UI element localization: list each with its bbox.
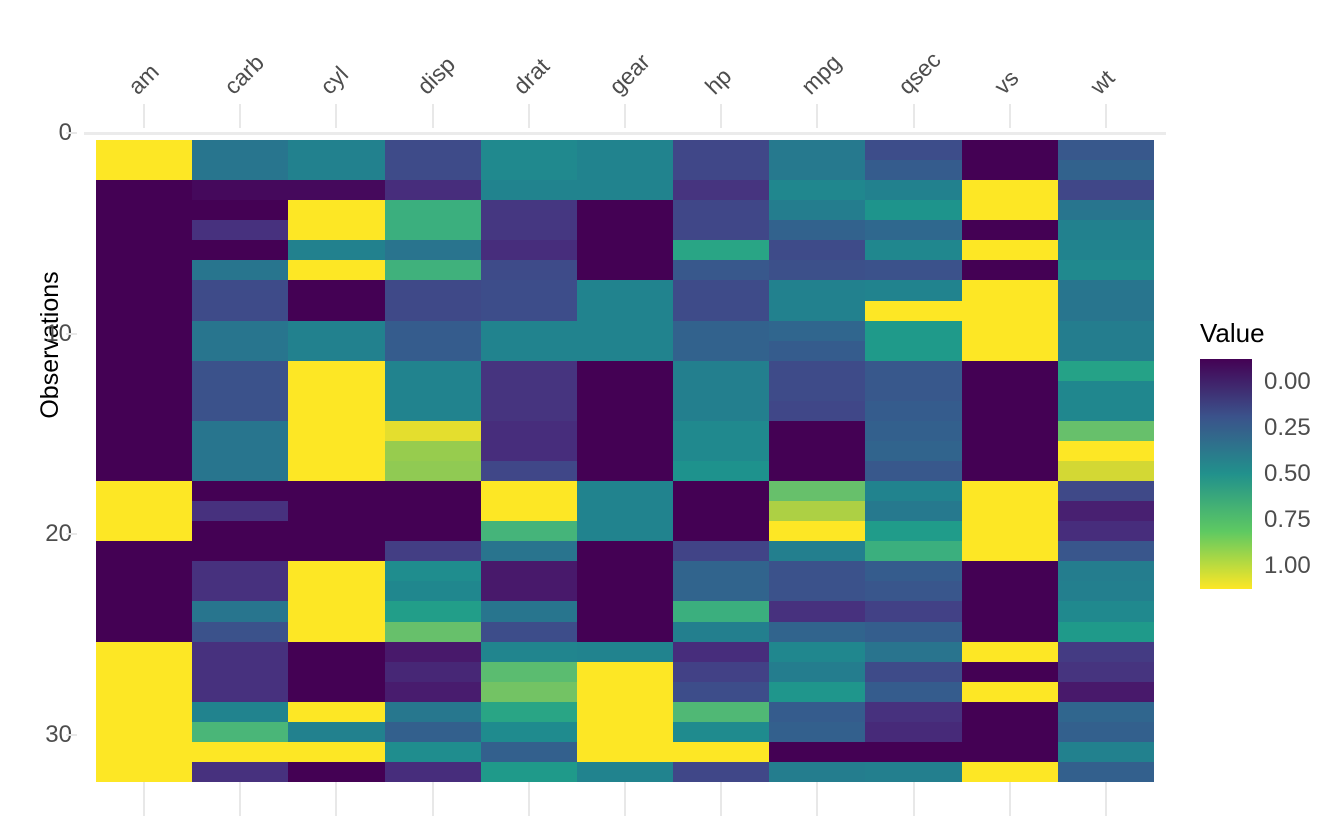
heatmap-cell (577, 180, 674, 201)
heatmap-cell (96, 642, 193, 663)
heatmap-cell (1058, 280, 1154, 301)
heatmap-cell (1058, 180, 1154, 201)
heatmap-cell (962, 240, 1059, 261)
heatmap-cell (962, 481, 1059, 502)
heatmap-cell (385, 421, 482, 442)
heatmap-cell (481, 421, 578, 442)
heatmap-cell (481, 501, 578, 522)
heatmap-cell (577, 140, 674, 161)
heatmap-cell (288, 581, 385, 602)
heatmap-cell (385, 662, 482, 683)
heatmap-cell (385, 140, 482, 161)
y-axis-tick-mark (66, 333, 77, 335)
heatmap-cell (577, 441, 674, 462)
heatmap-cell (385, 240, 482, 261)
heatmap-cell (481, 722, 578, 743)
heatmap-cell (1058, 622, 1154, 643)
heatmap-cell (962, 722, 1059, 743)
heatmap-cell (1058, 160, 1154, 181)
heatmap-cell (1058, 662, 1154, 683)
x-axis-tick-mark (1009, 104, 1011, 128)
heatmap-cell (865, 662, 962, 683)
heatmap-cell (865, 240, 962, 261)
x-axis-tick-mark (335, 104, 337, 128)
x-axis-tick-mark (143, 104, 145, 128)
heatmap-cell (96, 702, 193, 723)
heatmap-cell (481, 240, 578, 261)
heatmap-cell (96, 220, 193, 241)
heatmap-cell (385, 742, 482, 763)
heatmap-cell (962, 361, 1059, 382)
heatmap-cell (288, 321, 385, 342)
heatmap-cell (1058, 140, 1154, 161)
heatmap-cell (673, 421, 770, 442)
heatmap-cell (577, 642, 674, 663)
heatmap-cell (577, 742, 674, 763)
heatmap-cell (481, 481, 578, 502)
heatmap-cell (673, 541, 770, 562)
heatmap-cell (577, 341, 674, 362)
heatmap-cell (385, 722, 482, 743)
heatmap-cell (96, 521, 193, 542)
heatmap-cell (1058, 361, 1154, 382)
heatmap-cell (673, 260, 770, 281)
x-axis-bottom-tick-mark (624, 782, 626, 816)
heatmap-cell (769, 361, 866, 382)
heatmap-cell (385, 160, 482, 181)
x-axis-bottom-tick-mark (528, 782, 530, 816)
heatmap-cell (673, 561, 770, 582)
x-axis: amcarbcyldispdratgearhpmpgqsecvswt (0, 0, 1344, 128)
heatmap-cell (385, 541, 482, 562)
heatmap-cell (673, 501, 770, 522)
heatmap-cell (673, 381, 770, 402)
heatmap-cell (673, 441, 770, 462)
heatmap-cell (962, 321, 1059, 342)
heatmap-cell (769, 160, 866, 181)
heatmap-cell (385, 301, 482, 322)
heatmap-cell (481, 461, 578, 482)
heatmap-cell (288, 461, 385, 482)
heatmap-cell (288, 742, 385, 763)
heatmap-cell (192, 702, 289, 723)
heatmap-cell (96, 722, 193, 743)
heatmap-cell (673, 461, 770, 482)
heatmap-cell (865, 682, 962, 703)
heatmap-cell (385, 601, 482, 622)
heatmap-cell (288, 501, 385, 522)
heatmap-cell (288, 280, 385, 301)
heatmap-cell (192, 742, 289, 763)
heatmap-cell (385, 441, 482, 462)
y-axis-tick-mark (66, 132, 77, 134)
heatmap-cell (865, 140, 962, 161)
heatmap-cell (1058, 642, 1154, 663)
heatmap-cell (673, 200, 770, 221)
heatmap-cell (865, 401, 962, 422)
heatmap-cell (1058, 441, 1154, 462)
heatmap-cell (481, 682, 578, 703)
heatmap-cell (481, 601, 578, 622)
heatmap-cell (577, 421, 674, 442)
legend-tick-label: 0.25 (1264, 414, 1311, 442)
heatmap-cell (1058, 260, 1154, 281)
heatmap-cell (962, 441, 1059, 462)
heatmap-cell (192, 622, 289, 643)
heatmap-cell (288, 441, 385, 462)
heatmap-cell (865, 702, 962, 723)
heatmap-cell (1058, 341, 1154, 362)
legend-colorbar-wrap: 0.000.250.500.751.00 (1196, 359, 1344, 591)
heatmap-cell (481, 341, 578, 362)
heatmap-cell (673, 180, 770, 201)
heatmap-cell (962, 521, 1059, 542)
heatmap-cell (865, 280, 962, 301)
heatmap-cell (962, 280, 1059, 301)
heatmap-cell (288, 541, 385, 562)
heatmap-cell (577, 240, 674, 261)
heatmap-cell (769, 220, 866, 241)
heatmap-cell (962, 200, 1059, 221)
heatmap-cell (96, 461, 193, 482)
heatmap-cell (769, 421, 866, 442)
heatmap-cell (288, 240, 385, 261)
heatmap-cell (865, 461, 962, 482)
heatmap-cell (962, 220, 1059, 241)
heatmap-cell (192, 481, 289, 502)
heatmap-cell (288, 381, 385, 402)
heatmap-cell (769, 762, 866, 782)
heatmap-cell (481, 521, 578, 542)
heatmap-cell (673, 341, 770, 362)
heatmap-cell (865, 581, 962, 602)
y-axis-tick-label: 10 (10, 320, 72, 348)
x-axis-bottom-tick-mark (816, 782, 818, 816)
heatmap-cell (962, 702, 1059, 723)
heatmap-cell (865, 481, 962, 502)
heatmap-cell (385, 682, 482, 703)
heatmap-cell (192, 501, 289, 522)
heatmap-cell (385, 321, 482, 342)
heatmap-cell (288, 662, 385, 683)
heatmap-cell (865, 601, 962, 622)
heatmap-cell (385, 501, 482, 522)
heatmap-cell (192, 662, 289, 683)
heatmap-cell (385, 762, 482, 782)
heatmap-cell (673, 622, 770, 643)
heatmap-cell (769, 280, 866, 301)
heatmap-cell (769, 601, 866, 622)
heatmap-cell (962, 381, 1059, 402)
heatmap-cell (1058, 682, 1154, 703)
heatmap-cell (577, 702, 674, 723)
heatmap-cell (577, 501, 674, 522)
heatmap-cell (769, 200, 866, 221)
heatmap-cell (962, 461, 1059, 482)
heatmap-cell (577, 381, 674, 402)
x-axis-tick-label: disp (412, 51, 461, 100)
heatmap-cell (962, 301, 1059, 322)
heatmap-cell (192, 541, 289, 562)
heatmap-cell (192, 581, 289, 602)
heatmap-cell (769, 381, 866, 402)
heatmap-cell (577, 762, 674, 782)
heatmap-cell (673, 481, 770, 502)
heatmap-cell (577, 481, 674, 502)
heatmap-cell (962, 541, 1059, 562)
heatmap-cell (673, 722, 770, 743)
x-axis-tick-mark (1105, 104, 1107, 128)
heatmap-cell (385, 622, 482, 643)
heatmap-cell (865, 742, 962, 763)
heatmap-cell (962, 662, 1059, 683)
heatmap-cell (577, 722, 674, 743)
heatmap-cell (481, 200, 578, 221)
heatmap-cell (962, 421, 1059, 442)
heatmap-cell (96, 441, 193, 462)
heatmap-cell (577, 200, 674, 221)
heatmap-cell (192, 180, 289, 201)
heatmap-cell (962, 622, 1059, 643)
heatmap-cell (769, 642, 866, 663)
heatmap-cell (769, 401, 866, 422)
heatmap-cell (865, 561, 962, 582)
x-axis-tick-mark (720, 104, 722, 128)
heatmap-cell (385, 180, 482, 201)
x-axis-tick-mark (816, 104, 818, 128)
heatmap-cell (96, 401, 193, 422)
x-axis-tick-mark (528, 104, 530, 128)
y-axis-tick-label: 20 (10, 520, 72, 548)
heatmap-cell (288, 421, 385, 442)
heatmap-cell (962, 642, 1059, 663)
heatmap-cell (288, 200, 385, 221)
heatmap-cell (385, 481, 482, 502)
heatmap-cell (96, 341, 193, 362)
heatmap-cell (962, 682, 1059, 703)
heatmap-cell (192, 682, 289, 703)
x-axis-bottom-tick-mark (335, 782, 337, 816)
heatmap-cell (1058, 401, 1154, 422)
heatmap-cell (96, 541, 193, 562)
heatmap-cell (673, 401, 770, 422)
heatmap-cell (96, 140, 193, 161)
heatmap-cell (865, 642, 962, 663)
x-axis-tick-label: drat (508, 53, 555, 100)
x-axis-tick-label: mpg (796, 49, 847, 100)
heatmap-cell (96, 421, 193, 442)
heatmap-cell (96, 180, 193, 201)
heatmap-cell (96, 662, 193, 683)
heatmap-cell (673, 662, 770, 683)
heatmap-cell (192, 361, 289, 382)
heatmap-cell (192, 461, 289, 482)
legend-colorbar (1200, 359, 1252, 589)
heatmap-cell (192, 441, 289, 462)
heatmap-cell (577, 521, 674, 542)
heatmap-cell (192, 521, 289, 542)
x-axis-tick-label: am (123, 58, 165, 100)
heatmap-cell (769, 140, 866, 161)
heatmap-cell (962, 260, 1059, 281)
heatmap-cell (192, 280, 289, 301)
heatmap-cell (96, 742, 193, 763)
heatmap-cell (769, 240, 866, 261)
heatmap-cell (96, 561, 193, 582)
heatmap-cell (865, 421, 962, 442)
legend-tick-label: 0.75 (1264, 506, 1311, 534)
heatmap-cell (481, 220, 578, 241)
heatmap-cell (481, 361, 578, 382)
heatmap-cell (865, 180, 962, 201)
heatmap-cell (1058, 742, 1154, 763)
heatmap-cell (288, 220, 385, 241)
heatmap-cell (385, 260, 482, 281)
heatmap-cell (577, 662, 674, 683)
heatmap-cell (865, 301, 962, 322)
heatmap-cell (288, 682, 385, 703)
heatmap-cell (96, 762, 193, 782)
heatmap-cell (577, 361, 674, 382)
heatmap-cell (1058, 421, 1154, 442)
heatmap-cell (962, 401, 1059, 422)
heatmap-cell (577, 160, 674, 181)
heatmap-cell (385, 280, 482, 301)
heatmap-cell (673, 581, 770, 602)
heatmap-cell (385, 581, 482, 602)
heatmap-cell (96, 361, 193, 382)
heatmap-cell (481, 702, 578, 723)
heatmap-cell (865, 160, 962, 181)
heatmap-cell (673, 601, 770, 622)
heatmap-cell (769, 722, 866, 743)
heatmap-cell (385, 461, 482, 482)
heatmap-cell (1058, 561, 1154, 582)
heatmap-cell (481, 622, 578, 643)
heatmap-cell (192, 762, 289, 782)
heatmap-cell (673, 521, 770, 542)
x-axis-bottom-ticks (0, 782, 1344, 830)
heatmap-cell (673, 642, 770, 663)
heatmap-cell (96, 601, 193, 622)
heatmap-cell (288, 160, 385, 181)
heatmap-cell (1058, 220, 1154, 241)
heatmap-panel (96, 140, 1154, 782)
heatmap-cell (385, 521, 482, 542)
heatmap-cell (1058, 521, 1154, 542)
y-axis-tick-mark (66, 734, 77, 736)
legend-tick-label: 0.50 (1264, 460, 1311, 488)
heatmap-cell (1058, 722, 1154, 743)
heatmap-cell (577, 260, 674, 281)
x-axis-tick-mark (432, 104, 434, 128)
heatmap-cell (192, 561, 289, 582)
heatmap-cell (962, 180, 1059, 201)
heatmap-cell (577, 321, 674, 342)
heatmap-cell (865, 381, 962, 402)
x-axis-bottom-tick-mark (1105, 782, 1107, 816)
heatmap-cell (385, 561, 482, 582)
heatmap-cell (769, 441, 866, 462)
x-axis-tick-mark (624, 104, 626, 128)
y-axis-tick-mark (66, 533, 77, 535)
heatmap-cell (288, 361, 385, 382)
heatmap-cell (96, 301, 193, 322)
x-axis-bottom-tick-mark (720, 782, 722, 816)
heatmap-cell (96, 481, 193, 502)
heatmap-cell (1058, 240, 1154, 261)
heatmap-cell (96, 501, 193, 522)
heatmap-cell (288, 622, 385, 643)
heatmap-cell (769, 581, 866, 602)
heatmap-cell (385, 220, 482, 241)
heatmap-cell (673, 220, 770, 241)
heatmap-cell (96, 160, 193, 181)
heatmap-cell (1058, 601, 1154, 622)
heatmap-cell (1058, 762, 1154, 782)
heatmap-cell (865, 722, 962, 743)
heatmap-cell (288, 481, 385, 502)
heatmap-cell (481, 381, 578, 402)
heatmap-cell (385, 361, 482, 382)
heatmap-cell (865, 762, 962, 782)
legend: Value 0.000.250.500.751.00 (1196, 318, 1344, 591)
heatmap-cell (288, 301, 385, 322)
heatmap-cell (192, 642, 289, 663)
heatmap-cell (865, 541, 962, 562)
heatmap-cell (288, 260, 385, 281)
heatmap-cell (769, 702, 866, 723)
heatmap-cell (962, 762, 1059, 782)
heatmap-cell (769, 260, 866, 281)
x-axis-bottom-tick-mark (913, 782, 915, 816)
heatmap-cell (577, 601, 674, 622)
heatmap-cell (385, 401, 482, 422)
heatmap-cell (577, 541, 674, 562)
heatmap-cell (865, 501, 962, 522)
heatmap-cell (385, 200, 482, 221)
heatmap-cell (288, 722, 385, 743)
heatmap-cell (769, 180, 866, 201)
heatmap-cell (769, 501, 866, 522)
heatmap-cell (673, 140, 770, 161)
heatmap-cell (769, 481, 866, 502)
heatmap-cell (673, 742, 770, 763)
heatmap-cell (481, 321, 578, 342)
x-axis-tick-label: hp (700, 63, 737, 100)
heatmap-cell (192, 240, 289, 261)
heatmap-cell (288, 561, 385, 582)
x-axis-bottom-tick-mark (1009, 782, 1011, 816)
heatmap-cell (577, 682, 674, 703)
heatmap-cell (865, 441, 962, 462)
heatmap-cell (481, 561, 578, 582)
x-axis-tick-label: cyl (315, 61, 354, 100)
heatmap-cell (481, 401, 578, 422)
heatmap-cell (865, 361, 962, 382)
heatmap-cell (1058, 702, 1154, 723)
heatmap-cell (481, 280, 578, 301)
heatmap-cell (385, 642, 482, 663)
heatmap-cell (865, 341, 962, 362)
heatmap-cell (96, 381, 193, 402)
heatmap-cell (288, 140, 385, 161)
heatmap-cell (481, 762, 578, 782)
heatmap-cell (673, 361, 770, 382)
heatmap-cell (962, 341, 1059, 362)
heatmap-cell (192, 260, 289, 281)
heatmap-cell (481, 541, 578, 562)
